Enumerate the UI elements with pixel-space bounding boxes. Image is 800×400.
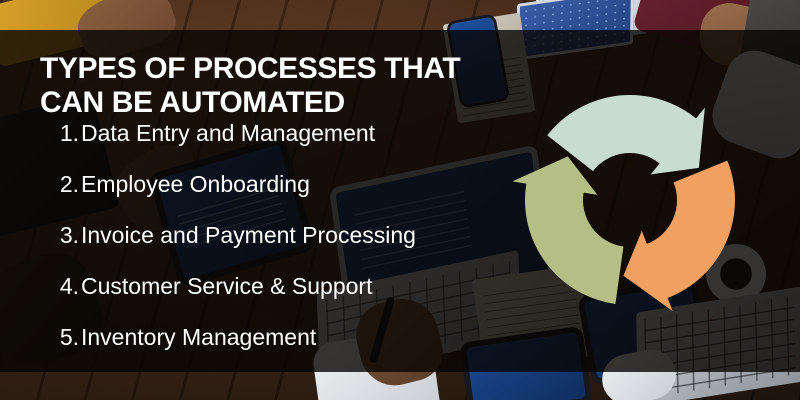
list-item: 5. Inventory Management <box>56 326 496 349</box>
list-item: 2. Employee Onboarding <box>56 173 496 196</box>
list-item: 3. Invoice and Payment Processing <box>56 224 496 247</box>
list-item-label: Invoice and Payment Processing <box>81 224 416 247</box>
list-item-number: 2. <box>56 173 79 196</box>
list-item: 4. Customer Service & Support <box>56 275 496 298</box>
cycle-diagram <box>505 85 755 335</box>
list-item-number: 5. <box>56 326 79 349</box>
segment-orange <box>623 161 735 311</box>
list-item-number: 4. <box>56 275 79 298</box>
list-item-label: Data Entry and Management <box>81 122 375 145</box>
list-item-label: Customer Service & Support <box>81 275 372 298</box>
page-title: TYPES OF PROCESSES THAT CAN BE AUTOMATED <box>40 52 470 119</box>
list-item-number: 1. <box>56 122 79 145</box>
content-layer: TYPES OF PROCESSES THAT CAN BE AUTOMATED… <box>0 0 800 400</box>
list-item-label: Employee Onboarding <box>81 173 310 196</box>
automated-process-list: 1. Data Entry and Management 2. Employee… <box>56 122 496 377</box>
list-item-label: Inventory Management <box>81 326 316 349</box>
list-item: 1. Data Entry and Management <box>56 122 496 145</box>
segment-olive <box>512 156 623 304</box>
page-title-line-1: TYPES OF PROCESSES THAT <box>40 52 460 85</box>
list-item-number: 3. <box>56 224 79 247</box>
page-title-line-2: CAN BE AUTOMATED <box>40 86 345 119</box>
